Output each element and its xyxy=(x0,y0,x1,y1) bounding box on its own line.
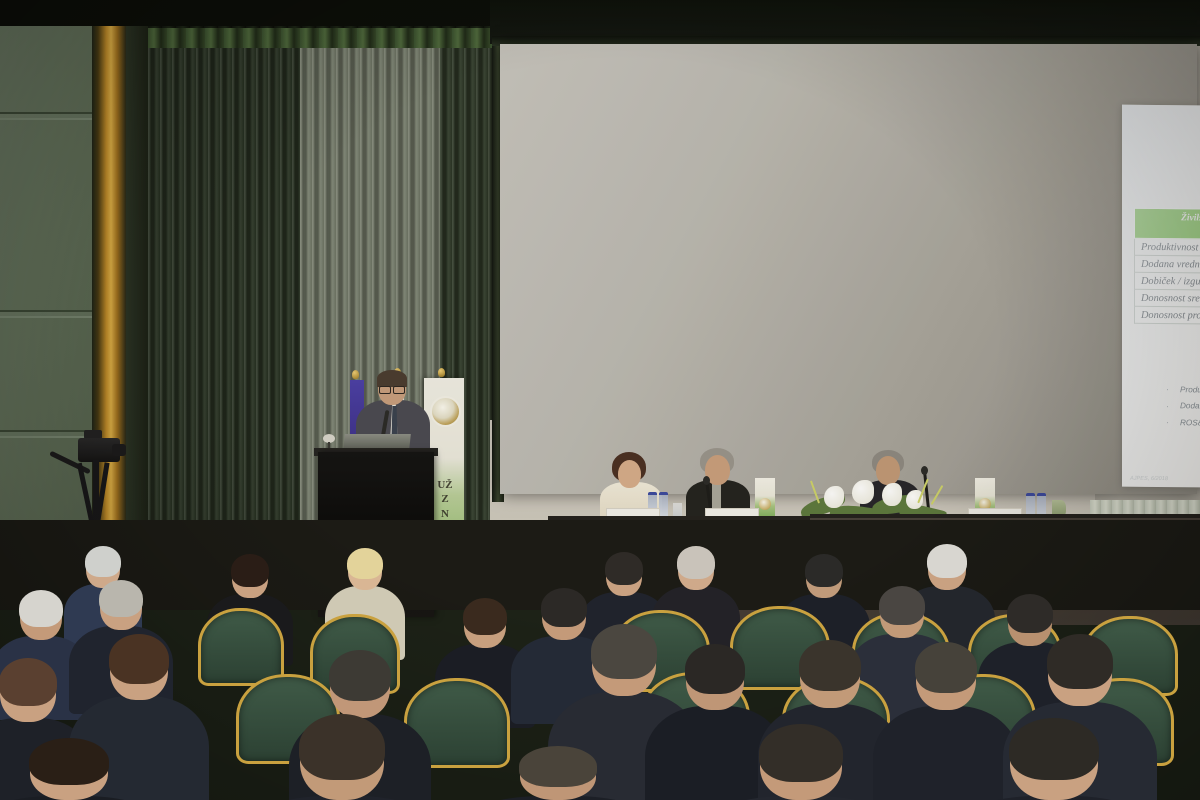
audience-member-hair xyxy=(799,640,861,691)
slide-source-footer: AJPES, 6/2018 xyxy=(1130,476,1168,482)
audience-member-hair xyxy=(1009,718,1099,780)
audience-member-hair xyxy=(329,650,391,701)
slide-subtitle-2: Stagnacija tudi pri DV/zap., a manjša ra… xyxy=(1130,168,1200,184)
bullet-text: ROS&ROA C10+11 / C = 65% xyxy=(1180,418,1200,429)
audience-member-hair xyxy=(85,546,121,577)
yellow-sprig xyxy=(931,485,944,505)
audience-member-hair xyxy=(1047,634,1113,689)
table-cell: Dodana vrednost na zap. (€) xyxy=(1135,256,1200,275)
audience-member-hair xyxy=(915,642,977,693)
audience-member-hair xyxy=(879,586,925,625)
bullet-text: Dodana vrednost na zap. C10+11 v C = 82,… xyxy=(1180,401,1200,412)
audience-member-torso xyxy=(873,706,1019,800)
bullet-marker: · xyxy=(1166,401,1180,411)
bullet-text: Produktivnost C10+11 / C = 99,0% xyxy=(1180,385,1200,396)
audience-member-hair xyxy=(591,624,657,679)
panel-member-1-head xyxy=(618,460,641,488)
audience-member-hair xyxy=(347,548,383,579)
audience-member-hair xyxy=(805,554,843,587)
table-cell: Produktivnost (€) xyxy=(1135,239,1200,258)
audience-member-hair xyxy=(0,658,57,706)
flag-pole-knob-eu xyxy=(352,370,359,379)
audience-member-hair xyxy=(541,588,587,627)
table-header-category: Živilskopredelovalna ind. C10+C11 xyxy=(1135,208,1200,240)
standee-logo-icon xyxy=(759,498,771,510)
white-flower xyxy=(824,486,844,508)
pilaster-shadow xyxy=(126,0,148,600)
table-row: Donosnost prodaje (ROS)3,76%101,1+ 4,94 … xyxy=(1135,307,1200,328)
wall-moulding-2 xyxy=(0,310,92,318)
audience-member-hair xyxy=(463,598,507,635)
slide-bullet-list: · Produktivnost C10+11 / C = 99,0% Trend… xyxy=(1166,381,1200,435)
results-table: Živilskopredelovalna ind. C10+C11 2017 I… xyxy=(1134,208,1200,329)
audience-member-hair xyxy=(927,544,967,578)
audience-member-hair xyxy=(231,554,269,587)
bullet-marker: · xyxy=(1166,417,1180,427)
tripod-column xyxy=(93,460,99,520)
audience-member-hair xyxy=(759,724,843,782)
audience-member-hair xyxy=(677,546,715,579)
audience-member-hair xyxy=(519,746,597,787)
white-flower xyxy=(852,480,874,504)
curtain-valance-ruffle xyxy=(148,28,530,48)
table-cell: Dobiček / izguba na zap. (€) xyxy=(1135,273,1200,292)
audience-member-hair xyxy=(605,552,643,585)
list-item: · ROS&ROA C10+11 / C = 65% Trend xyxy=(1166,414,1200,435)
table-header-category-line2: C10+C11 xyxy=(1140,223,1200,235)
conference-photo: Uspešnost poslovanja v letu 2017 Le nezn… xyxy=(0,0,1200,800)
audience-chair xyxy=(198,608,284,686)
table-cell: Donosnost sredstev (ROA) xyxy=(1135,290,1200,309)
slide-subtitle-3: Dejavnost ŽPI je leto 2017 zaključila z … xyxy=(1130,183,1200,199)
projection-screen: Uspešnost poslovanja v letu 2017 Le nezn… xyxy=(500,44,1197,494)
audience-member-hair xyxy=(299,714,385,780)
wall-moulding-1 xyxy=(0,112,92,120)
bullet-marker: · xyxy=(1166,384,1180,394)
table-cell: Donosnost prodaje (ROS) xyxy=(1135,307,1200,326)
panel-microphone-head xyxy=(703,476,710,485)
audience-member-hair xyxy=(109,634,169,684)
slide-subtitle-1: Le neznatna realna rast produktivnosti v… xyxy=(1130,153,1200,169)
drinking-glass xyxy=(673,503,682,517)
speaker-hair xyxy=(377,370,407,387)
banner-pole-knob xyxy=(438,368,445,377)
audience-member-hair xyxy=(1007,594,1053,633)
audience-member-hair xyxy=(19,590,63,627)
white-flower xyxy=(882,483,902,506)
wall-moulding-3 xyxy=(0,430,92,438)
eyeglasses-icon xyxy=(379,386,405,392)
audience-member-hair xyxy=(29,738,109,785)
presentation-slide: Uspešnost poslovanja v letu 2017 Le nezn… xyxy=(1122,105,1200,492)
panel-microphone-head xyxy=(921,466,928,475)
slide-title: Uspešnost poslovanja v letu 2017 xyxy=(1122,119,1200,145)
organisation-logo-icon xyxy=(430,396,461,427)
camera-lens-icon xyxy=(112,444,126,456)
audience-member-hair xyxy=(685,644,745,694)
audience-member-hair xyxy=(99,580,143,617)
